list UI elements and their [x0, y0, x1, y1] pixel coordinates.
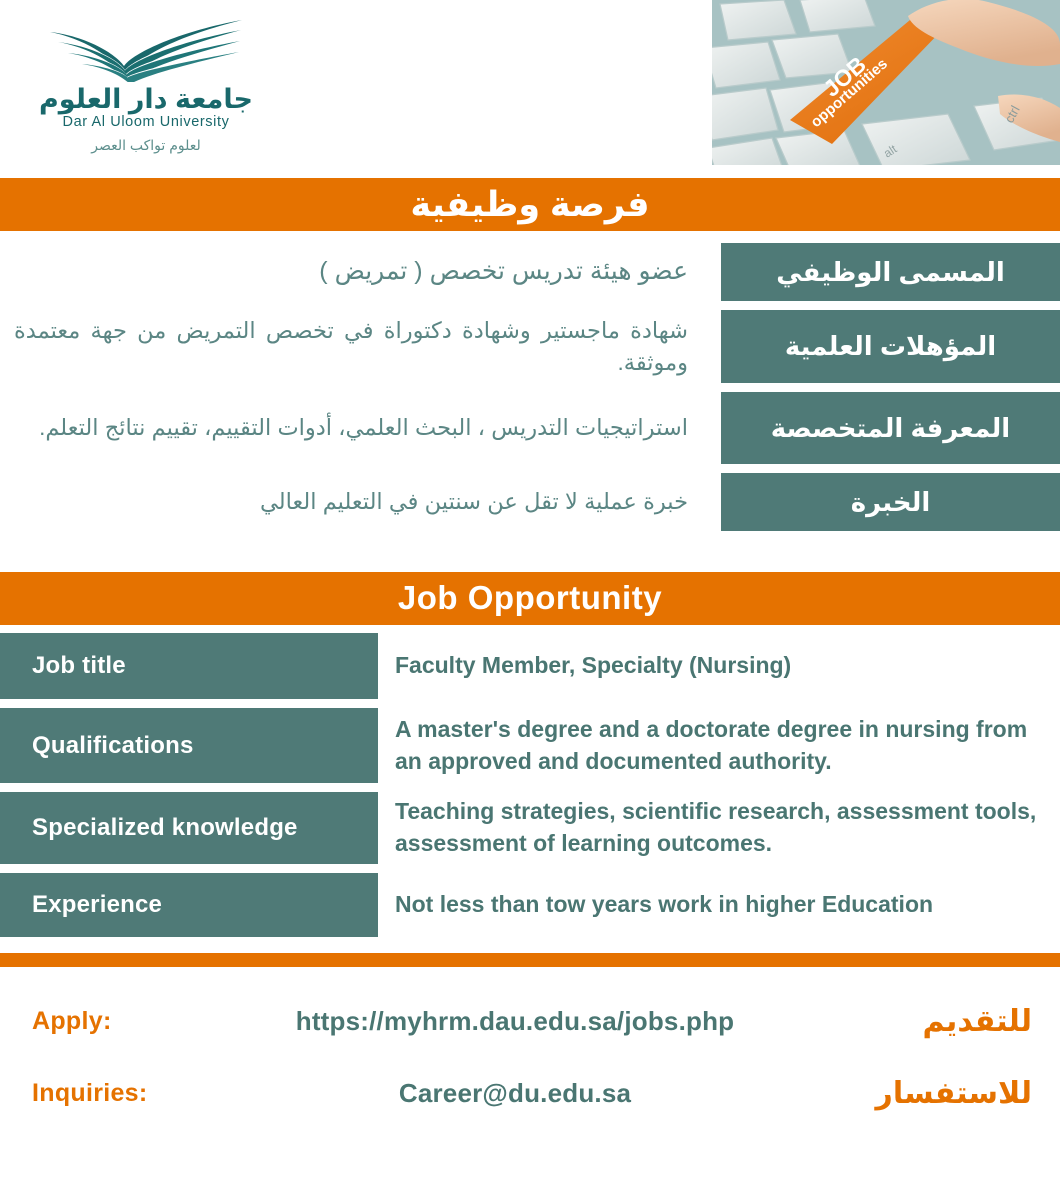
footer-divider: [0, 953, 1060, 967]
contact-footer: Apply: https://myhrm.dau.edu.sa/jobs.php…: [0, 985, 1060, 1129]
table-row: المسمى الوظيفي عضو هيئة تدريس تخصص ( تمر…: [0, 243, 1060, 301]
english-section-title: Job Opportunity: [0, 572, 1060, 625]
arabic-row-value-experience: خبرة عملية لا تقل عن سنتين في التعليم ال…: [0, 473, 708, 531]
hero-illustration-icon: JOB opportunities ctrl alt: [712, 0, 1060, 165]
page-header: جامعة دار العلوم Dar Al Uloom University…: [0, 0, 1060, 175]
english-row-value-experience: Not less than tow years work in higher E…: [378, 873, 1060, 937]
apply-label-arabic: للتقديم: [830, 1004, 1060, 1039]
english-row-label-qualifications: Qualifications: [0, 708, 378, 783]
arabic-row-label-experience: الخبرة: [721, 473, 1060, 531]
table-row: المعرفة المتخصصة استراتيجيات التدريس ، ا…: [0, 392, 1060, 464]
table-row: Qualifications A master's degree and a d…: [0, 708, 1060, 783]
english-row-label-specialized-knowledge: Specialized knowledge: [0, 792, 378, 864]
english-row-label-experience: Experience: [0, 873, 378, 937]
apply-label-english: Apply:: [0, 1007, 240, 1036]
inquiries-email-link[interactable]: Career@du.edu.sa: [240, 1078, 830, 1109]
table-row: Job title Faculty Member, Specialty (Nur…: [0, 633, 1060, 699]
arabic-row-value-specialized-knowledge: استراتيجيات التدريس ، البحث العلمي، أدوا…: [0, 392, 708, 464]
keyboard-job-opportunities-photo: JOB opportunities ctrl alt: [712, 0, 1060, 165]
table-row: Specialized knowledge Teaching strategie…: [0, 792, 1060, 864]
table-row: الخبرة خبرة عملية لا تقل عن سنتين في الت…: [0, 473, 1060, 531]
arabic-details-table: المسمى الوظيفي عضو هيئة تدريس تخصص ( تمر…: [0, 243, 1060, 540]
logo-tagline-arabic: لعلوم تواكب العصر: [26, 138, 266, 153]
arabic-row-label-qualifications: المؤهلات العلمية: [721, 310, 1060, 383]
logo-name-arabic: جامعة دار العلوم: [26, 84, 266, 114]
apply-url-link[interactable]: https://myhrm.dau.edu.sa/jobs.php: [240, 1006, 830, 1037]
swoosh-chevron-logo-icon: [46, 14, 246, 82]
table-row: Experience Not less than tow years work …: [0, 873, 1060, 937]
english-row-value-qualifications: A master's degree and a doctorate degree…: [378, 708, 1060, 783]
english-row-label-job-title: Job title: [0, 633, 378, 699]
arabic-row-label-job-title: المسمى الوظيفي: [721, 243, 1060, 301]
arabic-section-title: فرصة وظيفية: [0, 178, 1060, 231]
arabic-row-label-specialized-knowledge: المعرفة المتخصصة: [721, 392, 1060, 464]
table-row: المؤهلات العلمية شهادة ماجستير وشهادة دك…: [0, 310, 1060, 383]
university-logo: جامعة دار العلوم Dar Al Uloom University…: [26, 14, 266, 154]
footer-row-inquiries: Inquiries: Career@du.edu.sa للاستفسار: [0, 1057, 1060, 1129]
english-details-table: Job title Faculty Member, Specialty (Nur…: [0, 633, 1060, 946]
logo-name-english: Dar Al Uloom University: [26, 115, 266, 131]
arabic-row-value-job-title: عضو هيئة تدريس تخصص ( تمريض ): [0, 243, 708, 301]
inquiries-label-arabic: للاستفسار: [830, 1076, 1060, 1111]
arabic-row-value-qualifications: شهادة ماجستير وشهادة دكتوراة في تخصص الت…: [0, 310, 708, 383]
english-row-value-specialized-knowledge: Teaching strategies, scientific research…: [378, 792, 1060, 864]
english-row-value-job-title: Faculty Member, Specialty (Nursing): [378, 633, 1060, 699]
inquiries-label-english: Inquiries:: [0, 1079, 240, 1108]
footer-row-apply: Apply: https://myhrm.dau.edu.sa/jobs.php…: [0, 985, 1060, 1057]
